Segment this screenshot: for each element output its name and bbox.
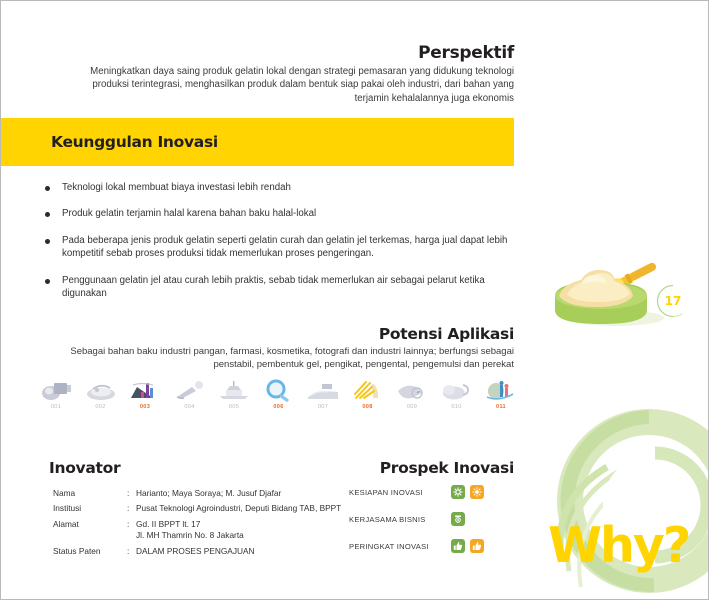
table-row: Institusi : Pusat Teknologi Agroindustri…	[53, 503, 349, 516]
flame-icon	[470, 539, 484, 553]
prospek-label: KESIAPAN INOVASI	[349, 488, 451, 497]
keunggulan-heading: Keunggulan Inovasi	[51, 133, 218, 151]
bullet-icon	[45, 239, 50, 244]
perspektif-body-text: Meningkatkan daya saing produk gelatin l…	[56, 65, 514, 105]
list-item-text: Teknologi lokal membuat biaya investasi …	[62, 181, 291, 194]
camera-film-icon	[38, 379, 74, 402]
row-value: Pusat Teknologi Agroindustri, Deputi Bid…	[136, 503, 349, 516]
row-label: Institusi	[53, 503, 125, 516]
app-icon-005[interactable]: 005	[214, 379, 254, 411]
app-icon-008[interactable]: 008	[348, 379, 388, 411]
magnifier-icon	[261, 379, 297, 402]
wheat-grain-icon	[350, 379, 386, 402]
why-text: Why?	[548, 521, 689, 570]
app-icon-caption: 007	[318, 403, 328, 411]
potensi-aplikasi-heading: Potensi Aplikasi	[1, 325, 514, 344]
bullet-icon	[45, 186, 50, 191]
inovator-details-table: Nama : Harianto; Maya Soraya; M. Jusuf D…	[51, 486, 351, 561]
bullet-icon	[45, 212, 50, 217]
app-icon-001[interactable]: 001	[36, 379, 76, 411]
list-item: Penggunaan gelatin jel atau curah lebih …	[45, 274, 517, 301]
list-item: Produk gelatin terjamin halal karena bah…	[45, 207, 517, 220]
people-globe-icon	[483, 379, 519, 402]
prospek-inovasi-list: KESIAPAN INOVASI	[349, 485, 514, 566]
application-icon-strip: 001 002	[36, 379, 521, 415]
app-icon-caption: 011	[496, 403, 506, 411]
ship-icon	[216, 379, 252, 402]
list-item-text: Produk gelatin terjamin halal karena bah…	[62, 207, 316, 220]
prospek-row-kesiapan: KESIAPAN INOVASI	[349, 485, 514, 499]
perspektif-heading: Perspektif	[1, 43, 514, 63]
app-icon-caption: 004	[184, 403, 194, 411]
list-item-text: Pada beberapa jenis produk gelatin seper…	[62, 234, 517, 261]
row-label: Status Paten	[53, 546, 125, 559]
row-separator: :	[127, 546, 134, 559]
page-number-badge: 17	[656, 284, 690, 318]
advantages-list: Teknologi lokal membuat biaya investasi …	[45, 181, 517, 313]
app-icon-caption: 002	[95, 403, 105, 411]
app-icon-010[interactable]: 010	[437, 379, 477, 411]
prospek-row-peringkat: PERINGKAT INOVASI	[349, 539, 514, 553]
app-icon-003[interactable]: 003	[125, 379, 165, 411]
potensi-aplikasi-body-text: Sebagai bahan baku industri pangan, farm…	[61, 345, 514, 371]
app-icon-caption: 008	[362, 403, 372, 411]
row-label: Alamat	[53, 519, 125, 544]
app-icon-007[interactable]: 007	[303, 379, 343, 411]
row-value: Gd. II BPPT lt. 17 Jl. MH Thamrin No. 8 …	[136, 519, 349, 544]
bullet-icon	[45, 279, 50, 284]
row-separator: :	[127, 488, 134, 501]
prospek-label: KERJASAMA BISNIS	[349, 515, 451, 524]
field-crops-icon	[305, 379, 341, 402]
app-icon-006[interactable]: 006	[259, 379, 299, 411]
recycle-cloud-icon	[439, 379, 475, 402]
app-icon-004[interactable]: 004	[170, 379, 210, 411]
prospek-label: PERINGKAT INOVASI	[349, 542, 451, 551]
page-number-text: 17	[665, 294, 682, 308]
app-icon-009[interactable]: 009	[392, 379, 432, 411]
row-value: Harianto; Maya Soraya; M. Jusuf Djafar	[136, 488, 349, 501]
inovator-heading: Inovator	[49, 459, 120, 478]
row-separator: :	[127, 503, 134, 516]
app-icon-caption: 010	[451, 403, 461, 411]
row-separator: :	[127, 519, 134, 544]
prospek-inovasi-heading: Prospek Inovasi	[341, 459, 514, 478]
app-icon-011[interactable]: 011	[481, 379, 521, 411]
row-label: Nama	[53, 488, 125, 501]
sun-icon	[470, 485, 484, 499]
energy-meter-icon	[394, 379, 430, 402]
prospek-row-kerjasama: KERJASAMA BISNIS	[349, 512, 514, 526]
list-item: Teknologi lokal membuat biaya investasi …	[45, 181, 517, 194]
app-icon-caption: 006	[273, 403, 283, 411]
list-item-text: Penggunaan gelatin jel atau curah lebih …	[62, 274, 517, 301]
food-plate-icon	[83, 379, 119, 402]
list-item: Pada beberapa jenis produk gelatin seper…	[45, 234, 517, 261]
table-row: Status Paten : DALAM PROSES PENGAJUAN	[53, 546, 349, 559]
gear-icon	[451, 485, 465, 499]
factory-chart-icon	[127, 379, 163, 402]
app-icon-caption: 009	[407, 403, 417, 411]
row-value: DALAM PROSES PENGAJUAN	[136, 546, 349, 559]
table-row: Nama : Harianto; Maya Soraya; M. Jusuf D…	[53, 488, 349, 501]
app-icon-caption: 003	[140, 403, 150, 411]
app-icon-caption: 001	[51, 403, 61, 411]
table-row: Alamat : Gd. II BPPT lt. 17 Jl. MH Thamr…	[53, 519, 349, 544]
rocket-icon	[172, 379, 208, 402]
thumbs-up-icon	[451, 539, 465, 553]
app-icon-002[interactable]: 002	[81, 379, 121, 411]
app-icon-caption: 005	[229, 403, 239, 411]
page-canvas: Perspektif Meningkatkan daya saing produ…	[0, 0, 709, 600]
handshake-icon	[451, 512, 465, 526]
